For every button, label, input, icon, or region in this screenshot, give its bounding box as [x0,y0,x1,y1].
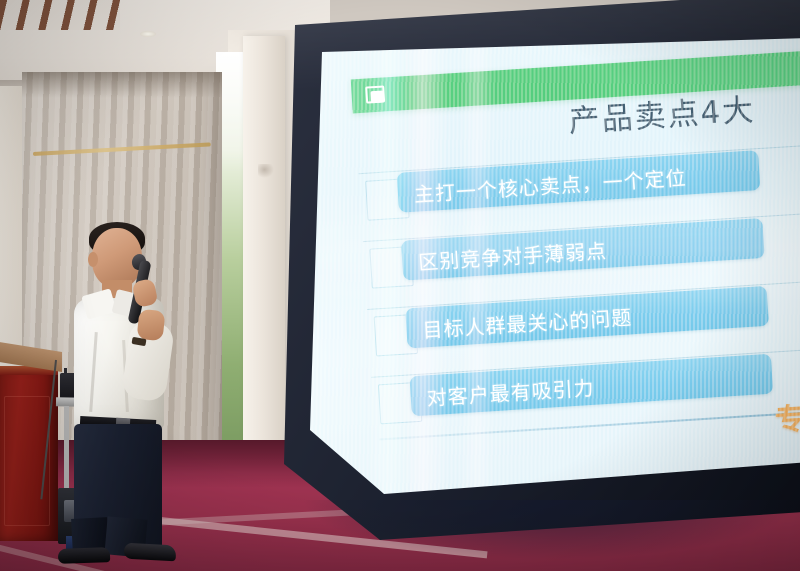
projector-bloom [310,188,800,308]
speaker-person [62,222,192,552]
shoe-back [58,547,110,564]
presentation-photo: 产品卖点4大 主打一个核心卖点，一个定位 区别竞争对手薄弱点 [0,0,800,571]
wall-pillar [243,36,285,502]
projection-screen: 产品卖点4大 主打一个核心卖点，一个定位 区别竞争对手薄弱点 [284,0,800,540]
ceiling-downlight [140,31,156,37]
podium-panel [4,396,50,526]
shoe-front [124,543,177,562]
hand-lower [137,309,166,342]
screen-floor-shadow [300,500,800,560]
ear [88,252,98,267]
slide-surface: 产品卖点4大 主打一个核心卖点，一个定位 区别竞争对手薄弱点 [310,38,800,494]
pillar-scuff [258,164,274,178]
ceiling-wood-beams [0,0,120,30]
curtain-top-shadow [22,72,222,98]
